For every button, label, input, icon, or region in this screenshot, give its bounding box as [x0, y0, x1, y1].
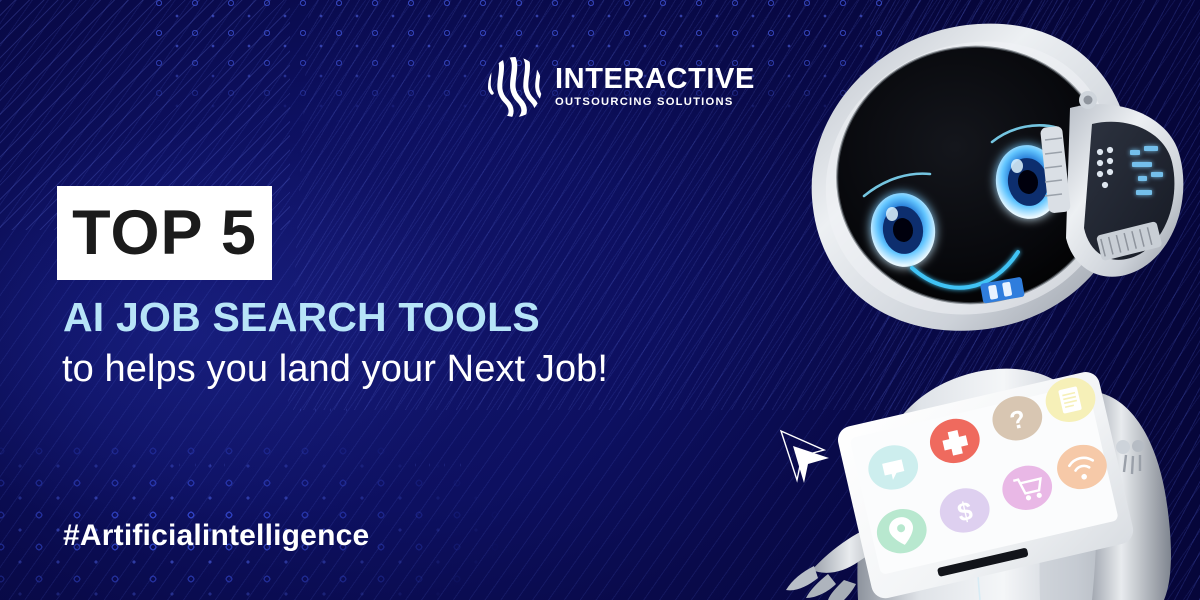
hexagon-rings-center: [150, 300, 490, 600]
page-subtitle: to helps you land your Next Job!: [62, 349, 608, 391]
brand-name: INTERACTIVE: [555, 65, 755, 94]
brand-tagline: OUTSOURCING SOLUTIONS: [555, 97, 755, 108]
brand-logo-text: INTERACTIVE OUTSOURCING SOLUTIONS: [555, 65, 755, 108]
globe-swirl-logo-icon: [484, 55, 546, 119]
page-title: AI JOB SEARCH TOOLS: [63, 297, 540, 338]
brand-logo: INTERACTIVE OUTSOURCING SOLUTIONS: [484, 55, 755, 119]
promo-banner: INTERACTIVE OUTSOURCING SOLUTIONS TOP 5 …: [0, 0, 1200, 600]
robot-illustration: ? $: [740, 0, 1200, 600]
hashtag-label: #Artificialintelligence: [63, 521, 369, 551]
top5-badge-label: TOP 5: [72, 202, 257, 265]
top5-badge: TOP 5: [57, 186, 272, 280]
